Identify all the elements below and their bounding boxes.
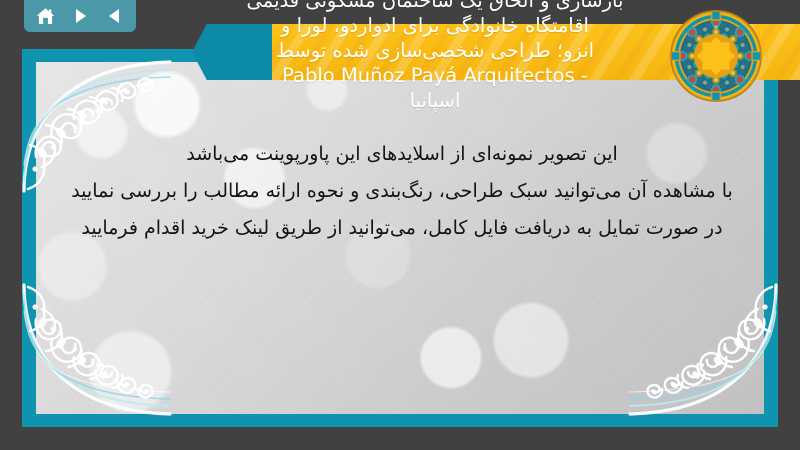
body-line-3: در صورت تمایل به دریافت فایل کامل، می‌تو…: [46, 210, 758, 247]
home-icon[interactable]: [34, 5, 56, 27]
previous-triangle-icon[interactable]: [104, 5, 126, 27]
navigation-bar: [24, 0, 136, 32]
persian-medallion-icon: [668, 8, 764, 104]
body-line-2: با مشاهده آن می‌توانید سبک طراحی، رنگ‌بن…: [46, 173, 758, 210]
next-triangle-icon[interactable]: [69, 5, 91, 27]
body-line-1: این تصویر نمونه‌ای از اسلایدهای این پاور…: [46, 136, 758, 173]
slide-canvas: بازسازی و الحاق یک ساختمان مسکونی قدیمی …: [0, 0, 800, 450]
title-line-3: انزو؛ طراحی شخصی‌سازی شده توسط: [200, 38, 670, 63]
slide-body-text: این تصویر نمونه‌ای از اسلایدهای این پاور…: [46, 136, 758, 247]
title-line-5: اسپانیا: [200, 88, 670, 113]
title-line-4: Pablo Muñoz Payá Arquitectos -: [200, 63, 670, 88]
slide-title: بازسازی و الحاق یک ساختمان مسکونی قدیمی …: [200, 0, 670, 113]
title-line-1: بازسازی و الحاق یک ساختمان مسکونی قدیمی: [200, 0, 670, 13]
title-line-2: اقامتگاه خانوادگی برای ادواردو، لورا و: [200, 13, 670, 38]
